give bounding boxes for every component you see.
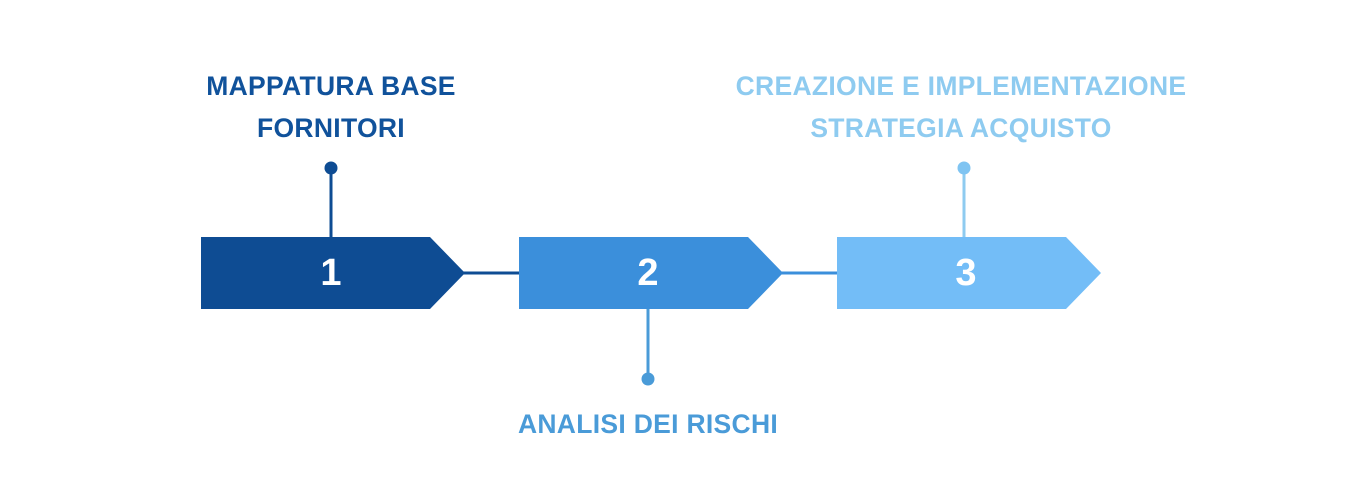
process-diagram: 1 MAPPATURA BASE FORNITORI 2 ANALISI DEI… <box>0 0 1349 494</box>
step-3-leader-dot <box>958 162 971 175</box>
diagram-canvas: 1 MAPPATURA BASE FORNITORI 2 ANALISI DEI… <box>0 0 1349 494</box>
step-3-label-line-1: CREAZIONE E IMPLEMENTAZIONE <box>736 71 1187 101</box>
step-3-label-line-2: STRATEGIA ACQUISTO <box>810 113 1111 143</box>
step-1-leader-dot <box>325 162 338 175</box>
step-2-number: 2 <box>637 252 658 294</box>
step-2-leader-dot <box>642 373 655 386</box>
step-1-label-line-1: MAPPATURA BASE <box>206 71 456 101</box>
step-3-number: 3 <box>955 252 976 294</box>
step-2-label-line-1: ANALISI DEI RISCHI <box>518 409 778 439</box>
step-1-label-line-2: FORNITORI <box>257 113 405 143</box>
step-1-number: 1 <box>320 252 341 294</box>
